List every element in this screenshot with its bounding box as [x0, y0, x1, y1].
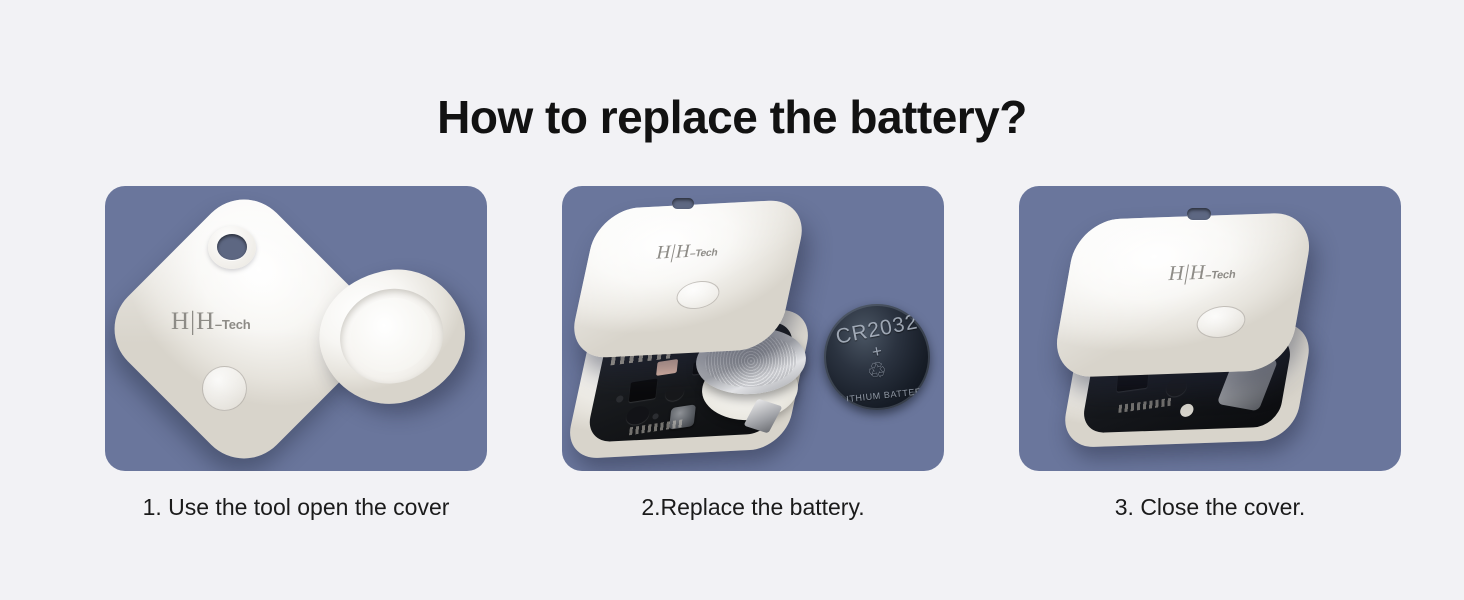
logo-suffix: –Tech	[1204, 269, 1236, 282]
cr2032-coin-cell: CR2032 + ♲ 3V LITHIUM BATTERY	[824, 304, 930, 410]
logo-divider: |	[190, 307, 195, 336]
pcb-component	[1179, 404, 1194, 417]
logo-letter-h2: H	[196, 308, 214, 336]
step-3: H|H–Tech 3. Close the cover.	[1019, 186, 1401, 521]
pcb-component	[615, 395, 624, 402]
pcb-chip	[1166, 377, 1188, 398]
logo-suffix: –Tech	[689, 247, 719, 259]
steps-row: H|H–Tech 1. Use the tool open the cover	[105, 186, 1401, 521]
keyring-hole-icon	[217, 234, 247, 260]
step-2-caption: 2.Replace the battery.	[641, 493, 864, 521]
logo-suffix: –Tech	[215, 317, 251, 332]
step-1-image-panel: H|H–Tech	[105, 186, 487, 471]
step-1-caption: 1. Use the tool open the cover	[143, 493, 450, 521]
keyring-hole-icon	[672, 198, 694, 209]
page-title: How to replace the battery?	[0, 88, 1464, 146]
logo-letter-h1: H	[171, 308, 189, 336]
device-button	[202, 366, 247, 411]
tracker-cover	[1050, 212, 1316, 378]
step-2: H|H–Tech CR2032 + ♲ 3V LITHIUM BATTERY 2…	[562, 186, 944, 521]
step-3-caption: 3. Close the cover.	[1115, 493, 1306, 521]
pcb-silkscreen	[1118, 398, 1172, 413]
pcb-copper-pad	[656, 359, 678, 376]
product-logo: H|H–Tech	[654, 239, 720, 264]
keyring-hole-icon	[1187, 208, 1211, 220]
pcb-chip	[665, 383, 685, 402]
pcb-component	[652, 413, 659, 419]
step-1: H|H–Tech 1. Use the tool open the cover	[105, 186, 487, 521]
pcb-chip	[625, 405, 650, 426]
product-logo: H|H–Tech	[1167, 259, 1239, 286]
step-3-image-panel: H|H–Tech	[1019, 186, 1401, 471]
step-2-image-panel: H|H–Tech CR2032 + ♲ 3V LITHIUM BATTERY	[562, 186, 944, 471]
product-logo: H|H–Tech	[171, 308, 251, 336]
pcb-chip	[629, 378, 658, 402]
